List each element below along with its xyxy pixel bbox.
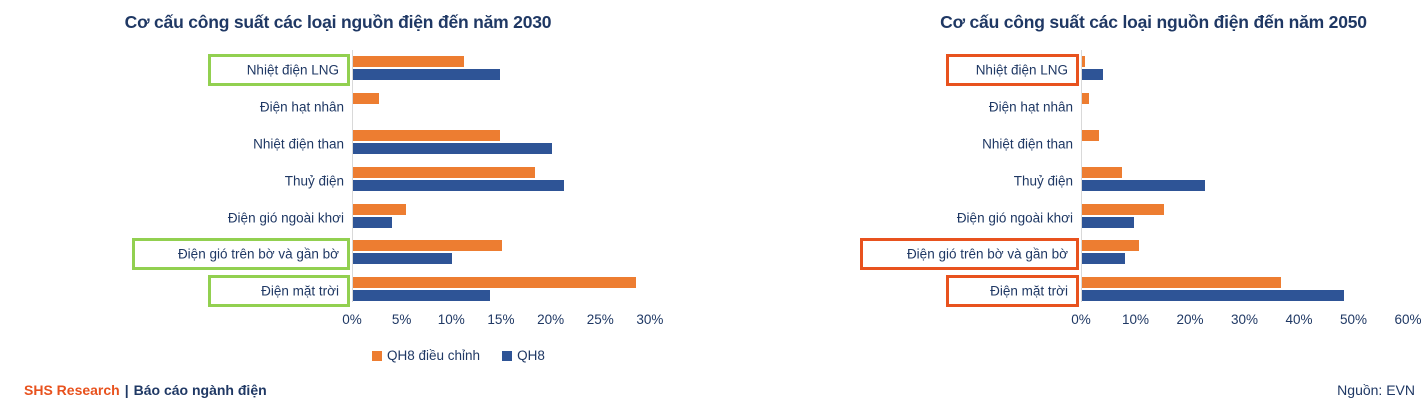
bar-row: Thuỷ điện — [0, 162, 690, 199]
footer-source: Nguồn: EVN — [1337, 382, 1415, 398]
bar-qh8 — [1082, 217, 1134, 228]
category-label: Thuỷ điện — [858, 173, 1073, 188]
x-tick-label: 60% — [1394, 312, 1421, 327]
bar-group — [353, 277, 690, 305]
bar-qh8 — [353, 290, 490, 301]
category-label: Điện mặt trời — [261, 283, 339, 298]
x-tick-label: 15% — [487, 312, 514, 327]
bar-row: Điện mặt trời — [860, 273, 1427, 310]
x-tick-label: 25% — [587, 312, 614, 327]
category-label: Thuỷ điện — [134, 173, 344, 188]
bar-qh8 — [1082, 253, 1125, 264]
bar-row: Điện hạt nhân — [0, 89, 690, 126]
x-tick-label: 0% — [1071, 312, 1091, 327]
bar-row: Nhiệt điện than — [0, 126, 690, 163]
category-label: Điện gió ngoài khơi — [858, 210, 1073, 225]
bar-group — [1082, 130, 1427, 158]
bar-group — [353, 56, 690, 84]
category-label: Nhiệt điện LNG — [247, 63, 339, 78]
bar-qh8-adjusted — [1082, 56, 1085, 67]
bar-row: Điện hạt nhân — [860, 89, 1427, 126]
bar-group — [353, 130, 690, 158]
x-tick-label: 40% — [1285, 312, 1312, 327]
category-label: Điện gió trên bờ và gần bờ — [178, 247, 339, 262]
x-tick-label: 0% — [342, 312, 362, 327]
bar-qh8-adjusted — [353, 56, 464, 67]
bar-group — [1082, 56, 1427, 84]
bar-row: Điện mặt trời — [0, 273, 690, 310]
legend-label: QH8 — [517, 348, 545, 363]
bar-qh8-adjusted — [353, 277, 636, 288]
plot-area-2030: Nhiệt điện LNGĐiện hạt nhânNhiệt điện th… — [0, 50, 690, 308]
x-tick-label: 30% — [1231, 312, 1258, 327]
bar-row: Điện gió ngoài khơi — [0, 199, 690, 236]
bar-qh8-adjusted — [1082, 93, 1089, 104]
bar-qh8-adjusted — [353, 167, 535, 178]
bar-qh8-adjusted — [1082, 240, 1139, 251]
chart-title-2050: Cơ cấu công suất các loại nguồn điện đến… — [860, 12, 1427, 33]
footer-branding: SHS Research | Báo cáo ngành điện — [24, 382, 267, 398]
bar-qh8 — [353, 253, 452, 264]
bar-row: Điện gió ngoài khơi — [860, 199, 1427, 236]
bar-group — [353, 93, 690, 121]
x-tick-label: 10% — [1122, 312, 1149, 327]
footer-separator: | — [120, 382, 134, 398]
category-label: Nhiệt điện LNG — [976, 63, 1068, 78]
bar-group — [1082, 277, 1427, 305]
bar-row: Nhiệt điện LNG — [0, 52, 690, 89]
category-label: Điện gió trên bờ và gần bờ — [907, 247, 1068, 262]
bar-rows-2050: Nhiệt điện LNGĐiện hạt nhânNhiệt điện th… — [860, 50, 1427, 308]
x-tick-label: 50% — [1340, 312, 1367, 327]
plot-area-2050: Nhiệt điện LNGĐiện hạt nhânNhiệt điện th… — [860, 50, 1427, 308]
category-label: Điện hạt nhân — [858, 100, 1073, 115]
category-highlight-box: Nhiệt điện LNG — [208, 54, 350, 86]
category-label: Điện gió ngoài khơi — [134, 210, 344, 225]
bar-qh8-adjusted — [353, 93, 379, 104]
bar-qh8 — [1082, 290, 1344, 301]
category-highlight-box: Điện gió trên bờ và gần bờ — [132, 238, 350, 270]
bar-qh8-adjusted — [1082, 277, 1281, 288]
bar-group — [1082, 93, 1427, 121]
category-highlight-box: Điện mặt trời — [208, 275, 350, 307]
bar-qh8-adjusted — [1082, 167, 1122, 178]
x-tick-label: 30% — [636, 312, 663, 327]
bar-group — [1082, 240, 1427, 268]
x-tick-label: 10% — [438, 312, 465, 327]
footer-brand: SHS Research — [24, 382, 120, 398]
category-label: Điện mặt trời — [990, 283, 1068, 298]
category-label: Điện hạt nhân — [134, 100, 344, 115]
bar-qh8 — [353, 69, 500, 80]
legend-item[interactable]: QH8 — [502, 348, 545, 363]
bar-qh8-adjusted — [1082, 204, 1164, 215]
legend-swatch-icon — [502, 351, 512, 361]
chart-panel-2050: Cơ cấu công suất các loại nguồn điện đến… — [860, 0, 1427, 407]
category-highlight-box: Điện mặt trời — [946, 275, 1079, 307]
bar-qh8 — [353, 180, 564, 191]
bar-row: Thuỷ điện — [860, 162, 1427, 199]
bar-row: Nhiệt điện LNG — [860, 52, 1427, 89]
bar-rows-2030: Nhiệt điện LNGĐiện hạt nhânNhiệt điện th… — [0, 50, 690, 308]
bar-group — [353, 167, 690, 195]
bar-qh8 — [353, 143, 552, 154]
legend-item[interactable]: QH8 điều chỉnh — [372, 348, 480, 363]
bar-group — [353, 204, 690, 232]
bar-group — [1082, 204, 1427, 232]
category-label: Nhiệt điện than — [134, 136, 344, 151]
bar-qh8-adjusted — [353, 130, 500, 141]
bar-row: Điện gió trên bờ và gần bờ — [0, 236, 690, 273]
bar-row: Điện gió trên bờ và gần bờ — [860, 236, 1427, 273]
bar-qh8-adjusted — [353, 204, 406, 215]
legend-label: QH8 điều chỉnh — [387, 348, 480, 363]
bar-qh8 — [353, 217, 392, 228]
bar-qh8 — [1082, 180, 1205, 191]
legend-2030: QH8 điều chỉnhQH8 — [372, 348, 545, 363]
category-highlight-box: Điện gió trên bờ và gần bờ — [860, 238, 1079, 270]
legend-swatch-icon — [372, 351, 382, 361]
category-highlight-box: Nhiệt điện LNG — [946, 54, 1079, 86]
x-tick-label: 5% — [392, 312, 412, 327]
bar-group — [353, 240, 690, 268]
chart-title-2030: Cơ cấu công suất các loại nguồn điện đến… — [0, 12, 690, 33]
category-label: Nhiệt điện than — [858, 136, 1073, 151]
footer-subtitle: Báo cáo ngành điện — [134, 382, 267, 398]
chart-panel-2030: Cơ cấu công suất các loại nguồn điện đến… — [0, 0, 690, 407]
bar-row: Nhiệt điện than — [860, 126, 1427, 163]
bar-qh8 — [1082, 69, 1103, 80]
x-tick-label: 20% — [1176, 312, 1203, 327]
bar-group — [1082, 167, 1427, 195]
x-tick-label: 20% — [537, 312, 564, 327]
bar-qh8-adjusted — [1082, 130, 1099, 141]
bar-qh8-adjusted — [353, 240, 502, 251]
